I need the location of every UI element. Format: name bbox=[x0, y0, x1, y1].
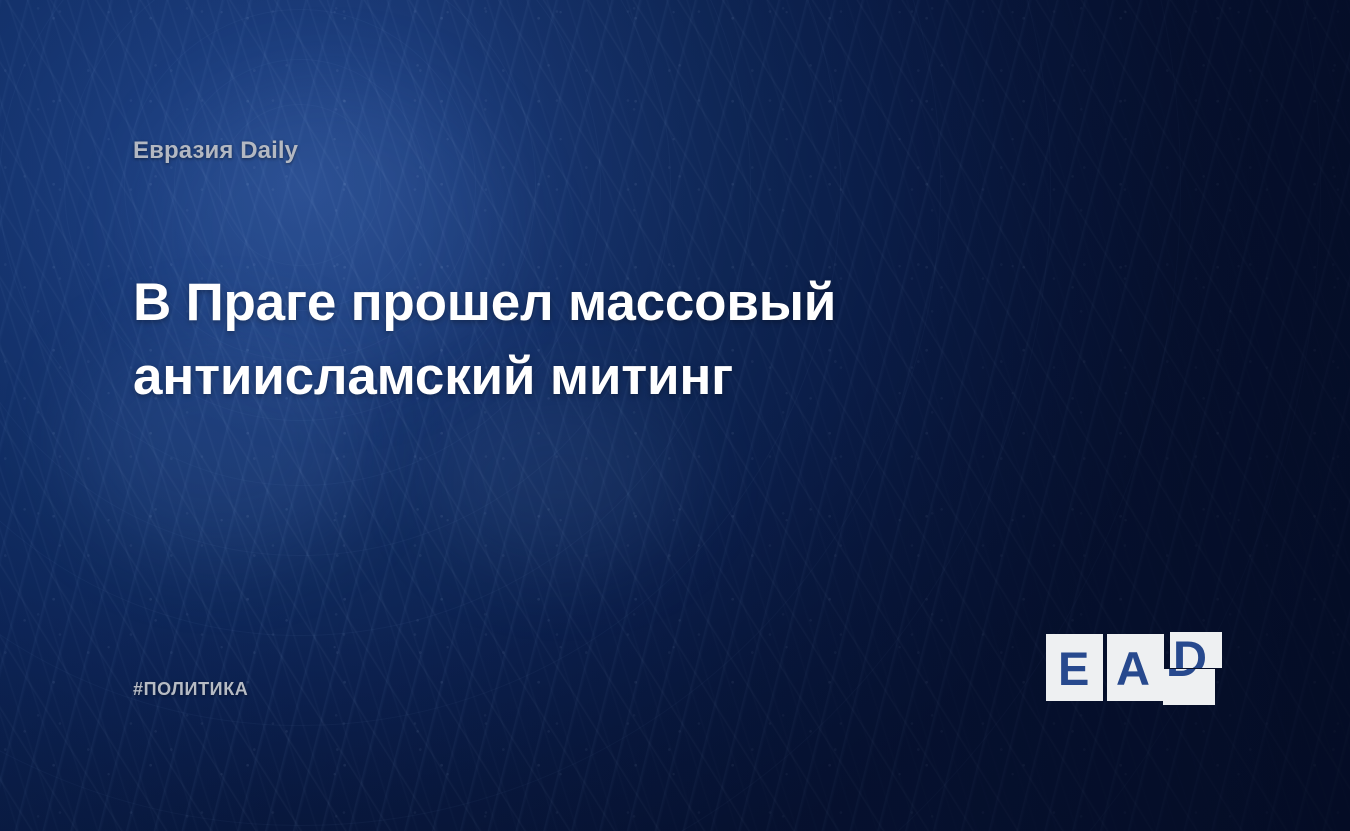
logo-letter-e: E bbox=[1058, 645, 1089, 692]
eadaily-logo[interactable]: E A D D bbox=[1046, 630, 1226, 710]
cover-content: Евразия Daily В Праге прошел массовый ан… bbox=[0, 0, 1350, 831]
logo-letter-d-top-glyph: D bbox=[1173, 634, 1207, 668]
category-tag-politics[interactable]: #ПОЛИТИКА bbox=[133, 679, 248, 700]
logo-letter-d-bottom-half: D bbox=[1163, 669, 1215, 705]
brand-wordmark[interactable]: Евразия Daily bbox=[133, 137, 298, 165]
logo-letter-d-top-half: D bbox=[1170, 632, 1222, 668]
article-cover-card: Евразия Daily В Праге прошел массовый ан… bbox=[0, 0, 1350, 831]
page-title: В Праге прошел массовый антиисламский ми… bbox=[133, 266, 913, 414]
logo-letter-d-bottom-glyph: D bbox=[1166, 669, 1200, 683]
logo-letter-a: A bbox=[1116, 645, 1150, 692]
